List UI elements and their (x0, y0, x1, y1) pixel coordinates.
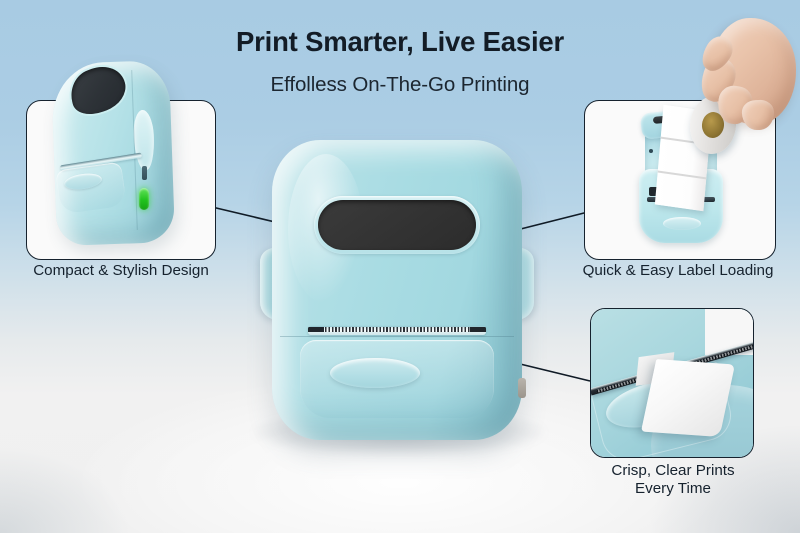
printer-angled-icon (26, 62, 216, 262)
product-infographic-poster: Print Smarter, Live Easier Effolless On-… (0, 0, 800, 533)
printer-tear-slot (308, 326, 486, 335)
corner-shadow-left (0, 383, 190, 533)
caption-compact-design: Compact & Stylish Design (10, 262, 232, 280)
printer-cover-seam (280, 336, 514, 337)
printer-tear-teeth-cap-right (470, 327, 486, 332)
printer-thumb-open-button[interactable] (330, 358, 420, 388)
printer-screen-bezel (314, 196, 480, 254)
label-strip-perforation-2 (658, 171, 707, 179)
feature-card-crisp-prints[interactable] (590, 308, 754, 458)
printer-base-thumb (663, 217, 701, 230)
hand-loading-label-roll-icon (696, 18, 800, 144)
caption-crisp-prints: Crisp, Clear Prints Every Time (560, 462, 786, 498)
hand-finger-ring (741, 99, 774, 130)
crisp-prints-card-clip (591, 309, 753, 457)
printer-screw-left (649, 149, 653, 153)
printer-tear-teeth (308, 327, 486, 332)
printed-label-output (641, 359, 735, 437)
printer-display-screen (318, 200, 476, 250)
caption-label-loading: Quick & Easy Label Loading (556, 262, 800, 280)
printer-tear-teeth-cap-left (308, 327, 324, 332)
printer-side-port (518, 378, 526, 398)
angled-printer-usb-port (142, 166, 147, 180)
power-led-indicator-icon (139, 188, 149, 210)
page-title: Print Smarter, Live Easier (0, 26, 800, 58)
main-product-printer (272, 140, 522, 440)
